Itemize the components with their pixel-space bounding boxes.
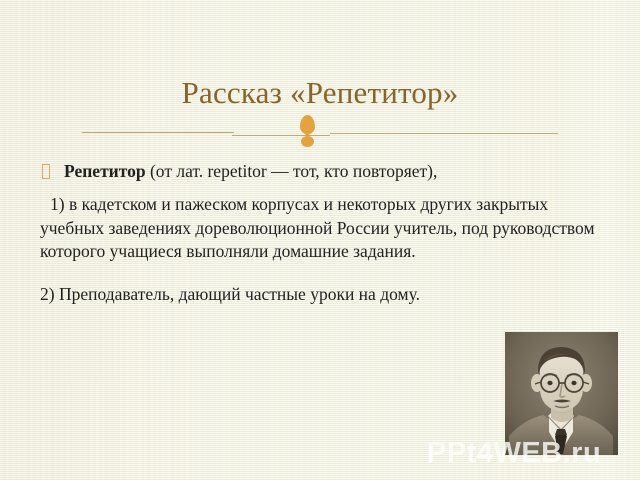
list-item-text: Репетитор (от лат. repetitor — тот, кто … (64, 160, 437, 183)
definition-term: Репетитор (64, 161, 146, 181)
bullet-box-icon (42, 164, 50, 179)
definition-gloss: (от лат. repetitor — тот, кто повторяет)… (146, 161, 438, 181)
portrait-photo (505, 332, 618, 455)
divider-rule-right (330, 133, 558, 134)
divider-rule-left-upper (82, 132, 234, 133)
ornament-dot-shape (301, 136, 314, 147)
portrait-illustration (505, 332, 618, 455)
definition-paragraph-2: 2) Преподаватель, дающий частные уроки н… (40, 283, 610, 307)
exclamation-ornament-icon (290, 114, 324, 150)
page-title: Рассказ «Репетитор» (0, 73, 640, 113)
definition-paragraph-1: 1) в кадетском и пажеском корпусах и нек… (40, 193, 610, 264)
list-item: Репетитор (от лат. repetitor — тот, кто … (40, 160, 610, 183)
ornament-drop-shape (300, 115, 315, 134)
slide-canvas: Рассказ «Репетитор» Репетитор (от лат. r… (0, 0, 640, 480)
slide-body: Репетитор (от лат. repetitor — тот, кто … (40, 160, 610, 306)
title-divider (82, 118, 558, 150)
